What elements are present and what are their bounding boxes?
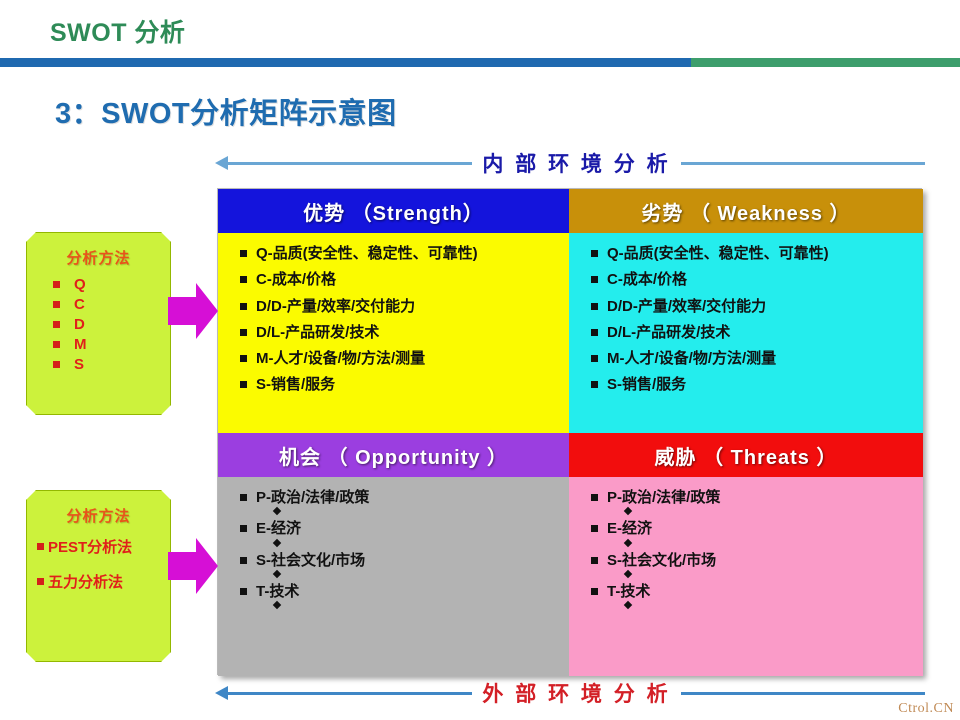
list-item-label: T-技术 [607,583,650,600]
square-bullet-icon [591,557,598,564]
list-item: S-销售/服务 [591,376,923,393]
list-item: D/L-产品研发/技术 [240,324,569,341]
quadrant-body-opportunity: P-政治/法律/政策 E-经济 S-社会文化/市场 T-技术 [218,477,569,676]
watermark: Ctrol.CN [898,701,954,717]
list-item-label: D/D-产量/效率/交付能力 [607,298,766,315]
list-item: S-社会文化/市场 [240,552,569,577]
arrow-line-right [681,692,925,695]
square-bullet-icon [591,276,598,283]
slide-header: SWOT 分析 [0,0,960,68]
list-item-label: P-政治/法律/政策 [256,489,369,506]
list-item: PEST分析法 [37,536,170,557]
arrow-line-left [228,692,472,695]
square-bullet-icon [53,321,60,328]
square-bullet-icon [240,303,247,310]
list-item: C-成本/价格 [591,271,923,288]
list-item: M-人才/设备/物/方法/测量 [591,350,923,367]
list-item-label: Q-品质(安全性、稳定性、可靠性) [607,245,829,262]
square-bullet-icon [591,250,598,257]
square-bullet-icon [240,557,247,564]
arrow-left-icon [215,686,228,700]
method-box-pest: 分析方法 PEST分析法 五力分析法 [26,490,171,662]
quadrant-header-opportunity: 机会 （ Opportunity ） [218,433,569,477]
square-bullet-icon [591,329,598,336]
list-item-label: Q-品质(安全性、稳定性、可靠性) [256,245,478,262]
internal-environment-label-row: 内 部 环 境 分 析 [215,146,925,180]
list-item: E-经济 [591,520,923,545]
list-item: P-政治/法律/政策 [591,489,923,514]
list-item-label: Q [74,276,86,293]
list-item: D [53,316,170,333]
square-bullet-icon [591,494,598,501]
square-bullet-icon [240,494,247,501]
list-item-label: M-人才/设备/物/方法/测量 [256,350,425,367]
external-environment-label-row: 外 部 环 境 分 析 [215,676,925,710]
list-item: S-社会文化/市场 [591,552,923,577]
divider-segment-green [691,58,960,67]
square-bullet-icon [240,329,247,336]
list-item: T-技术 [240,583,569,608]
diamond-bullet-icon [624,507,632,515]
method-box-title: 分析方法 [27,247,170,268]
diamond-bullet-icon [624,601,632,609]
header-title: SWOT 分析 [50,13,185,49]
diamond-bullet-icon [624,570,632,578]
quadrant-body-strength: Q-品质(安全性、稳定性、可靠性) C-成本/价格 D/D-产量/效率/交付能力… [218,233,569,433]
list-item-label: D/D-产量/效率/交付能力 [256,298,415,315]
list-item: C-成本/价格 [240,271,569,288]
list-item: S-销售/服务 [240,376,569,393]
diamond-bullet-icon [273,601,281,609]
diamond-bullet-icon [624,538,632,546]
method-item-list: Q C D M S [53,276,170,373]
square-bullet-icon [37,578,44,585]
list-item-label: PEST分析法 [48,536,132,557]
list-item-label: C [74,296,85,313]
header-divider [0,58,960,67]
list-item-label: D [74,316,85,333]
list-item: 五力分析法 [37,571,170,592]
square-bullet-icon [240,250,247,257]
quadrant-header-weakness: 劣势 （ Weakness ） [569,189,923,233]
quadrant-body-threats: P-政治/法律/政策 E-经济 S-社会文化/市场 T-技术 [569,477,923,676]
square-bullet-icon [53,341,60,348]
square-bullet-icon [591,381,598,388]
square-bullet-icon [240,525,247,532]
list-item-label: S [74,356,84,373]
swot-matrix: 优势 （Strength） 劣势 （ Weakness ） Q-品质(安全性、稳… [217,188,922,675]
arrow-left-icon [215,156,228,170]
square-bullet-icon [591,588,598,595]
list-item-label: M [74,336,87,353]
arrow-line-right [681,162,925,165]
quadrant-header-strength: 优势 （Strength） [218,189,569,233]
diamond-bullet-icon [273,538,281,546]
list-item: Q-品质(安全性、稳定性、可靠性) [591,245,923,262]
external-environment-label: 外 部 环 境 分 析 [472,678,680,708]
list-item-label: E-经济 [607,520,652,537]
method-box-qcdms: 分析方法 Q C D M S [26,232,171,415]
list-item-label: S-社会文化/市场 [607,552,716,569]
list-item: E-经济 [240,520,569,545]
list-item-label: S-社会文化/市场 [256,552,365,569]
list-item: Q-品质(安全性、稳定性、可靠性) [240,245,569,262]
diamond-bullet-icon [273,570,281,578]
list-item-label: T-技术 [256,583,299,600]
square-bullet-icon [591,355,598,362]
list-item-label: D/L-产品研发/技术 [607,324,730,341]
list-item: M [53,336,170,353]
list-item-label: D/L-产品研发/技术 [256,324,379,341]
arrow-line-left [228,162,472,165]
list-item: P-政治/法律/政策 [240,489,569,514]
method-item-list: PEST分析法 五力分析法 [37,536,170,592]
square-bullet-icon [240,355,247,362]
list-item-label: C-成本/价格 [607,271,687,288]
list-item: D/D-产量/效率/交付能力 [591,298,923,315]
diamond-bullet-icon [273,507,281,515]
internal-environment-label: 内 部 环 境 分 析 [472,148,680,178]
square-bullet-icon [240,381,247,388]
list-item-label: P-政治/法律/政策 [607,489,720,506]
square-bullet-icon [37,543,44,550]
list-item-label: M-人才/设备/物/方法/测量 [607,350,776,367]
square-bullet-icon [591,303,598,310]
square-bullet-icon [53,301,60,308]
arrow-right-icon-top [168,283,218,339]
arrow-right-icon-bottom [168,538,218,594]
list-item-label: 五力分析法 [48,571,123,592]
quadrant-header-threats: 威胁 （ Threats ） [569,433,923,477]
quadrant-body-weakness: Q-品质(安全性、稳定性、可靠性) C-成本/价格 D/D-产量/效率/交付能力… [569,233,923,433]
square-bullet-icon [591,525,598,532]
method-box-title: 分析方法 [27,505,170,526]
square-bullet-icon [240,276,247,283]
list-item: S [53,356,170,373]
list-item: Q [53,276,170,293]
list-item-label: E-经济 [256,520,301,537]
list-item-label: S-销售/服务 [256,376,335,393]
square-bullet-icon [240,588,247,595]
list-item: D/D-产量/效率/交付能力 [240,298,569,315]
square-bullet-icon [53,281,60,288]
list-item-label: C-成本/价格 [256,271,336,288]
list-item: M-人才/设备/物/方法/测量 [240,350,569,367]
list-item: D/L-产品研发/技术 [591,324,923,341]
divider-segment-blue [0,58,691,67]
list-item: T-技术 [591,583,923,608]
list-item-label: S-销售/服务 [607,376,686,393]
page-title: 3：SWOT分析矩阵示意图 [55,90,397,132]
square-bullet-icon [53,361,60,368]
list-item: C [53,296,170,313]
